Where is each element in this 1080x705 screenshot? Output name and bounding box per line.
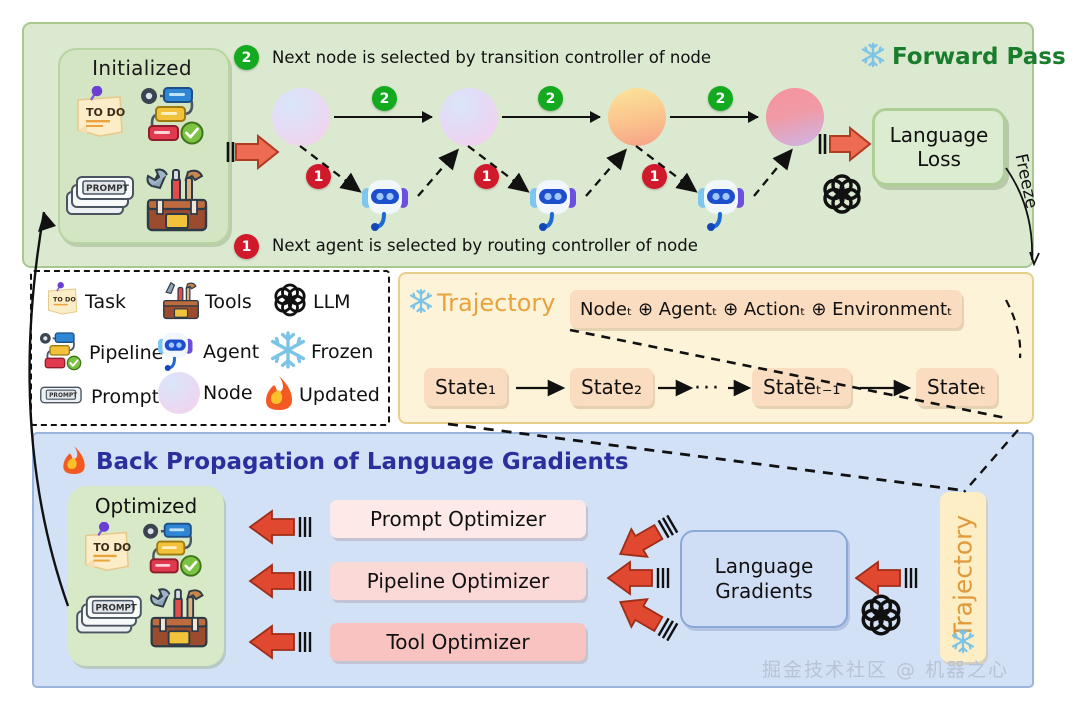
robot-agent-icon-2 — [522, 174, 586, 236]
robot-agent-icon — [152, 328, 200, 376]
robot-agent-icon-3 — [690, 174, 754, 236]
forward-pass-title: Forward Pass — [860, 42, 1066, 72]
prompt-card-icon: PROMPT — [38, 382, 88, 412]
legend-label-frozen: Frozen — [311, 341, 373, 363]
toolbox-icon — [160, 278, 202, 326]
fire-icon — [60, 444, 88, 480]
state-box-1: State₁ — [424, 368, 507, 406]
pipeline-icon — [138, 84, 210, 150]
language-loss-box: Language Loss — [872, 108, 1006, 186]
language-gradients-box: Language Gradients — [680, 530, 848, 628]
legend-item-agent: Agent — [152, 328, 259, 376]
legend-label-task: Task — [85, 291, 126, 313]
legend-label-prompt: Prompt — [91, 386, 159, 408]
svg-text:PROMPT: PROMPT — [49, 393, 77, 399]
initialized-title: Initialized — [58, 56, 226, 80]
legend-item-tools: Tools — [160, 278, 252, 326]
node-circle-2 — [440, 88, 498, 146]
node-transition-arrow-2 — [502, 116, 600, 118]
badge-agent-1-c: 1 — [642, 164, 667, 189]
svg-text:TO DO: TO DO — [53, 295, 76, 303]
toolbox-icon — [142, 162, 212, 240]
badge-node-2-a: 2 — [372, 86, 397, 111]
legend-item-pipeline: Pipeline — [38, 330, 163, 376]
snowflake-icon — [268, 330, 308, 374]
pipeline-icon-optimized — [140, 520, 208, 582]
prompt-optimizer-button[interactable]: Prompt Optimizer — [330, 500, 586, 538]
legend-label-llm: LLM — [313, 291, 351, 313]
language-loss-line1: Language — [890, 123, 989, 147]
snowflake-icon — [408, 288, 434, 318]
legend-item-node: Node — [158, 372, 253, 414]
toolbox-icon-optimized — [146, 582, 212, 656]
legend-label-tools: Tools — [205, 291, 252, 313]
backprop-title: Back Propagation of Language Gradients — [60, 444, 629, 480]
snowflake-icon — [860, 42, 886, 72]
legend-label-agent: Agent — [203, 341, 259, 363]
legend-item-task: TO DO Task — [42, 282, 126, 322]
pipeline-icon — [38, 330, 86, 376]
trajectory-formula-text: Nodeₜ ⊕ Agentₜ ⊕ Actionₜ ⊕ Environmentₜ — [580, 299, 952, 320]
svg-text:PROMPT: PROMPT — [86, 184, 130, 194]
badge-agent-1-a: 1 — [306, 164, 331, 189]
legend-item-updated: Updated — [262, 374, 380, 416]
todo-note-icon: TO DO — [70, 86, 128, 146]
openai-logo-icon — [270, 280, 310, 324]
prompt-card-icon: PROMPT — [64, 170, 136, 230]
node-circle-icon — [158, 372, 200, 414]
badge-agent-1-b: 1 — [474, 164, 499, 189]
prompt-card-icon-optimized: PROMPT — [74, 590, 144, 648]
legend-item-prompt: PROMPT Prompt — [38, 382, 159, 412]
state-box-t: Stateₜ — [916, 368, 997, 406]
state-ellipsis: ··· — [694, 376, 721, 401]
badge-transition-2: 2 — [234, 45, 259, 70]
tool-optimizer-button[interactable]: Tool Optimizer — [330, 623, 586, 661]
svg-text:TO DO: TO DO — [86, 106, 125, 119]
node-circle-4 — [766, 88, 824, 146]
node-transition-arrow-1 — [334, 116, 432, 118]
node-transition-arrow-3 — [670, 116, 758, 118]
fire-icon — [262, 374, 296, 416]
trajectory-label: Trajectory — [437, 289, 556, 317]
todo-note-icon: TO DO — [42, 282, 82, 322]
openai-logo-icon-forward — [818, 170, 866, 222]
language-gradients-line2: Gradients — [715, 579, 812, 604]
backprop-label: Back Propagation of Language Gradients — [96, 449, 629, 475]
forward-pass-label: Forward Pass — [892, 44, 1066, 70]
badge-routing-1: 1 — [234, 234, 259, 259]
optimized-title: Optimized — [68, 494, 224, 518]
language-loss-line2: Loss — [917, 147, 961, 171]
svg-text:TO DO: TO DO — [93, 542, 131, 554]
node-circle-3 — [608, 88, 666, 146]
todo-note-icon-optimized: TO DO — [78, 522, 134, 580]
trajectory-title: Trajectory — [408, 288, 556, 318]
watermark: 掘金技术社区 @ 机器之心 — [762, 655, 1009, 682]
openai-logo-icon-backprop — [856, 590, 906, 644]
state-box-t-minus-1: Stateₜ₋₁ — [752, 368, 851, 406]
pipeline-optimizer-button[interactable]: Pipeline Optimizer — [330, 562, 586, 600]
legend-label-node: Node — [203, 382, 253, 404]
legend-item-llm: LLM — [270, 280, 351, 324]
language-gradients-line1: Language — [715, 554, 814, 579]
badge-node-2-b: 2 — [538, 86, 563, 111]
caption-routing: Next agent is selected by routing contro… — [272, 236, 698, 255]
trajectory-formula: Nodeₜ ⊕ Agentₜ ⊕ Actionₜ ⊕ Environmentₜ — [570, 290, 962, 328]
robot-agent-icon-1 — [354, 174, 418, 236]
badge-node-2-c: 2 — [708, 86, 733, 111]
legend-item-frozen: Frozen — [268, 330, 373, 374]
legend-label-updated: Updated — [299, 384, 380, 406]
node-circle-1 — [272, 88, 330, 146]
svg-text:PROMPT: PROMPT — [96, 603, 137, 613]
state-box-2: State₂ — [570, 368, 653, 406]
caption-transition: Next node is selected by transition cont… — [272, 48, 711, 67]
snowflake-icon-trajectory-vertical — [950, 628, 976, 658]
